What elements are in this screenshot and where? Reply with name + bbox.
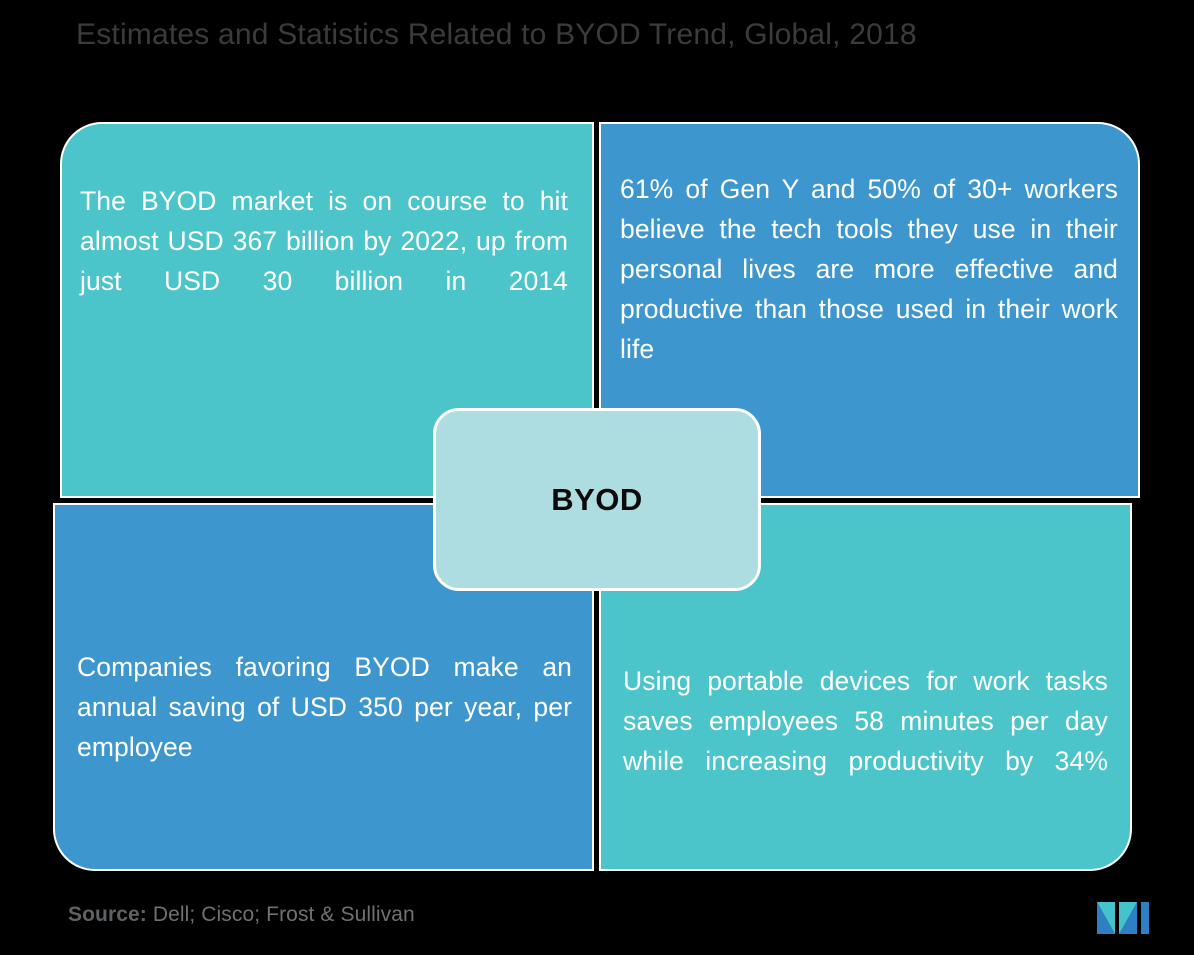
center-hub: BYOD xyxy=(433,408,761,591)
quadrant-bottom-right-text: Using portable devices for work tasks sa… xyxy=(623,661,1108,821)
source-note: Source: Dell; Cisco; Frost & Sullivan xyxy=(68,903,415,927)
center-hub-label: BYOD xyxy=(551,482,643,518)
infographic-stage: The BYOD market is on course to hit almo… xyxy=(0,0,1194,955)
quadrant-top-left-text: The BYOD market is on course to hit almo… xyxy=(80,181,568,341)
mordor-intelligence-logo-icon xyxy=(1097,898,1149,938)
source-label: Source: xyxy=(68,903,147,926)
source-value: Dell; Cisco; Frost & Sullivan xyxy=(153,903,415,926)
quadrant-top-right-text: 61% of Gen Y and 50% of 30+ workers beli… xyxy=(620,169,1118,409)
quadrant-bottom-left-text: Companies favoring BYOD make an annual s… xyxy=(77,647,572,807)
